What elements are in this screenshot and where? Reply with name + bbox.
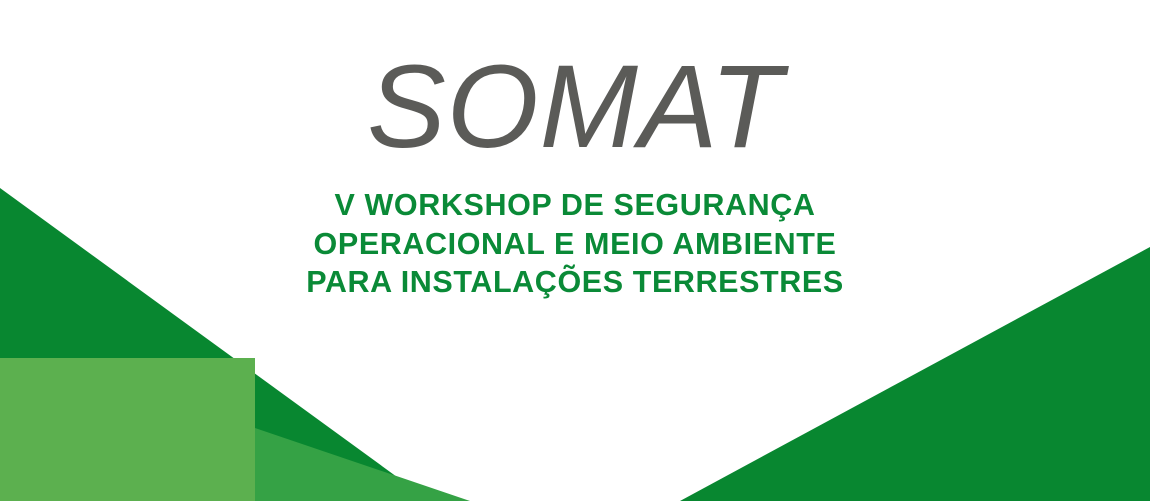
left-light-green-column-shape	[0, 358, 86, 501]
decorative-geometry-layer	[0, 0, 1150, 501]
somat-event-banner: SOMAT V WORKSHOP DE SEGURANÇA OPERACIONA…	[0, 0, 1150, 501]
